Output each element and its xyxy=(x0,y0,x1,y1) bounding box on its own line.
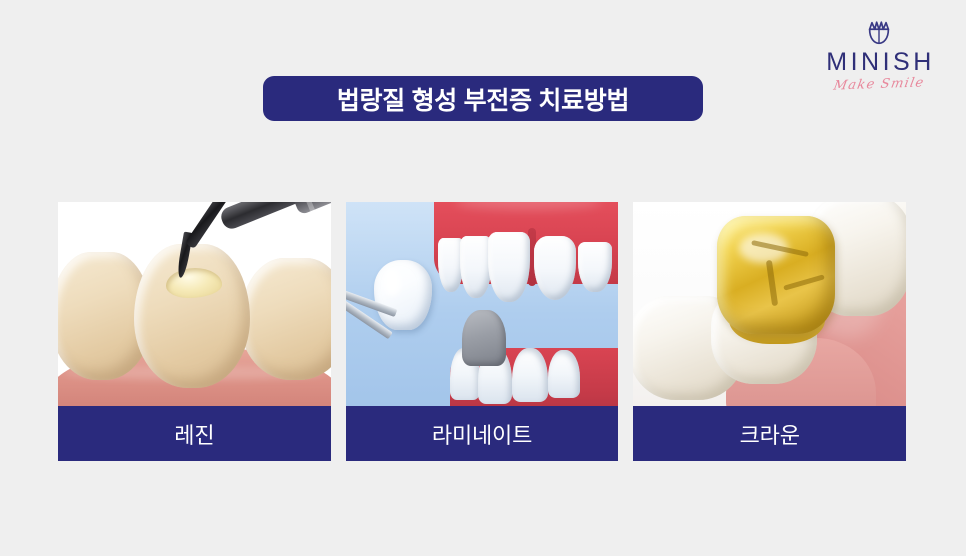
brand-logo: MINISH Make Smile xyxy=(814,18,944,91)
upper-tooth-shape xyxy=(488,232,530,302)
upper-tooth-shape xyxy=(460,236,492,298)
upper-tooth-shape xyxy=(534,236,576,300)
prepared-tooth-shape xyxy=(462,310,506,366)
upper-tooth-shape xyxy=(578,242,612,292)
logo-tagline: Make Smile xyxy=(812,76,945,94)
logo-wordmark: MINISH xyxy=(814,50,944,75)
treatment-card-label: 라미네이트 xyxy=(346,406,619,461)
treatment-card-label: 레진 xyxy=(58,406,331,461)
lower-tooth-shape xyxy=(512,348,548,402)
molar-shape xyxy=(240,258,331,380)
veneer-shell-shape xyxy=(374,260,432,330)
page-title-banner: 법랑질 형성 부전증 치료방법 xyxy=(263,76,703,121)
molar-shape xyxy=(134,244,250,388)
lower-tooth-shape xyxy=(548,350,580,398)
resin-treatment-image xyxy=(58,202,331,406)
treatment-card-list: 레진 라미네이트 xyxy=(58,202,906,461)
tulip-icon xyxy=(864,18,894,48)
treatment-card[interactable]: 레진 xyxy=(58,202,331,461)
treatment-card[interactable]: 크라운 xyxy=(633,202,906,461)
page-title: 법랑질 형성 부전증 치료방법 xyxy=(337,81,629,117)
treatment-card[interactable]: 라미네이트 xyxy=(346,202,619,461)
treatment-card-label: 크라운 xyxy=(633,406,906,461)
laminate-treatment-image xyxy=(346,202,619,406)
crown-treatment-image xyxy=(633,202,906,406)
